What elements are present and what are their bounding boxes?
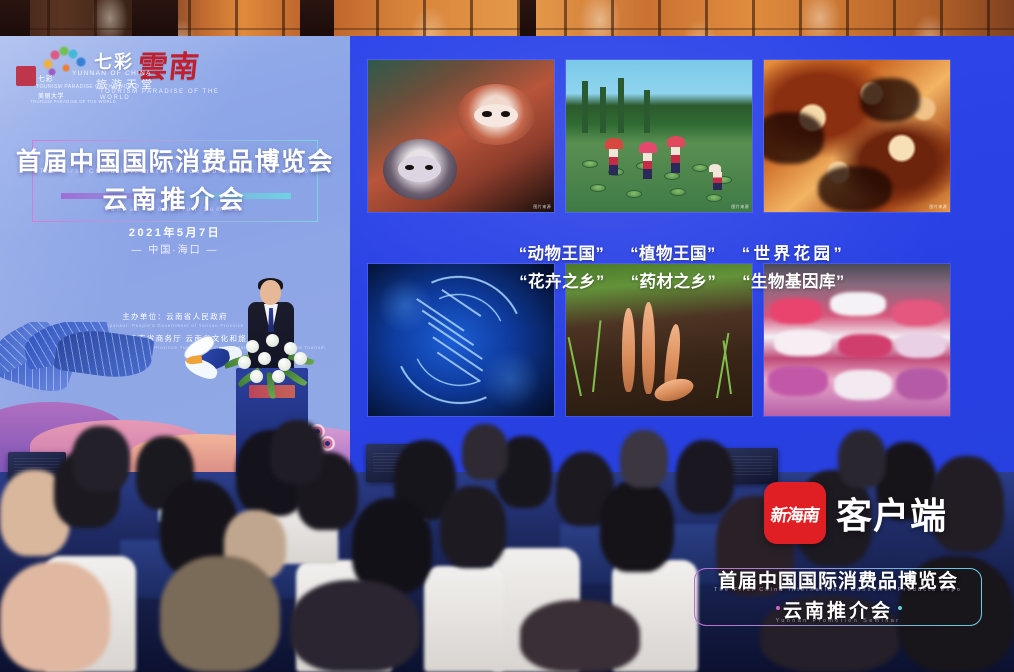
audience-head-24 [520,600,640,672]
overlay-title-line1-english: The First China International Consumer P… [676,587,1000,593]
screen-caption-block: “动物王国” “植物王国” “世界花园” “花卉之乡” “药材之乡” “生物基因… [350,240,1014,292]
overlay-title-line2-english: Yunnan Promotion Seminar [676,618,1000,624]
caption-plant-kingdom: “植物王国” [630,240,716,264]
screenshot-root: 七彩 雲南 YUNNAN OF CHINA 旅游天堂 TOURISM PARAD… [0,0,1014,672]
caption-row-1: “动物王国” “植物王国” “世界花园” [350,240,1014,264]
photo-credit-2: 图片来源 [731,204,749,210]
event-date: 2021年5月7日 [14,224,336,240]
giant-water-lily-dancers-photo: 图片来源 [566,60,752,212]
caption-gene-bank: “生物基因库” [742,268,845,292]
audience-chair-6 [424,566,504,672]
audience-head-29 [838,430,886,488]
xinhainan-logo-text: 新海南 [769,501,821,526]
watermark: 新海南 客户端 [764,482,947,544]
audience-head-3 [72,426,130,492]
brand-sub-qicai: 七彩 [38,74,53,84]
audience-head-27 [620,430,668,488]
audience-head-14 [440,486,506,568]
brand-sub-english-2: TOURISM PARADISE OF THE WORLD [30,99,116,104]
event-title-line2-english: Yunnan Promotion Seminar [14,207,336,213]
yunnan-brand-lockup: 七彩 雲南 YUNNAN OF CHINA 旅游天堂 TOURISM PARAD… [8,44,248,100]
brand-seal-icon [16,66,36,86]
snub-nosed-monkeys-photo: 图片来源 [368,60,554,212]
event-overlay-badge: 首届中国国际消费品博览会 The First China Internation… [676,562,1000,646]
audience-head-17 [600,480,674,572]
event-place: — 中国·海口 — [14,241,336,256]
photo-credit-3: 图片来源 [929,204,947,210]
audience-head-28 [462,424,508,480]
right-led-screen: 图片来源 图片来源 图片来源 [350,36,1014,472]
audience-head-23 [290,580,420,672]
audience-head-18 [676,440,734,514]
brand-english-bottom: TOURISM PARADISE OF THE WORLD [100,89,248,101]
mineral-crystal-texture-photo: 图片来源 [764,60,950,212]
event-title-block: 首届中国国际消费品博览会 The First China Internation… [14,136,336,246]
photo-credit-1: 图片来源 [533,204,551,210]
caption-row-2: “花卉之乡” “药材之乡” “生物基因库” [350,268,1014,292]
brand-sub-english: TOURISM PARADISE OF THE WORLD [36,84,139,90]
caption-animal-kingdom: “动物王国” [519,240,605,264]
audience-head-9 [0,562,110,672]
audience-head-8 [160,556,280,672]
xinhainan-logo-icon: 新海南 [764,482,826,544]
host-organization-cn: 主办单位：云南省人民政府 [0,311,350,322]
caption-flower-hometown: “花卉之乡” [519,268,605,292]
floral-arrangement [228,330,320,392]
caption-medicine-hometown: “药材之乡” [631,268,717,292]
event-title-line1-english: The First China International Consumer P… [14,169,336,175]
watermark-label: 客户端 [836,487,947,539]
audience-head-11 [270,420,324,484]
caption-world-garden: “世界花园” [742,240,846,264]
